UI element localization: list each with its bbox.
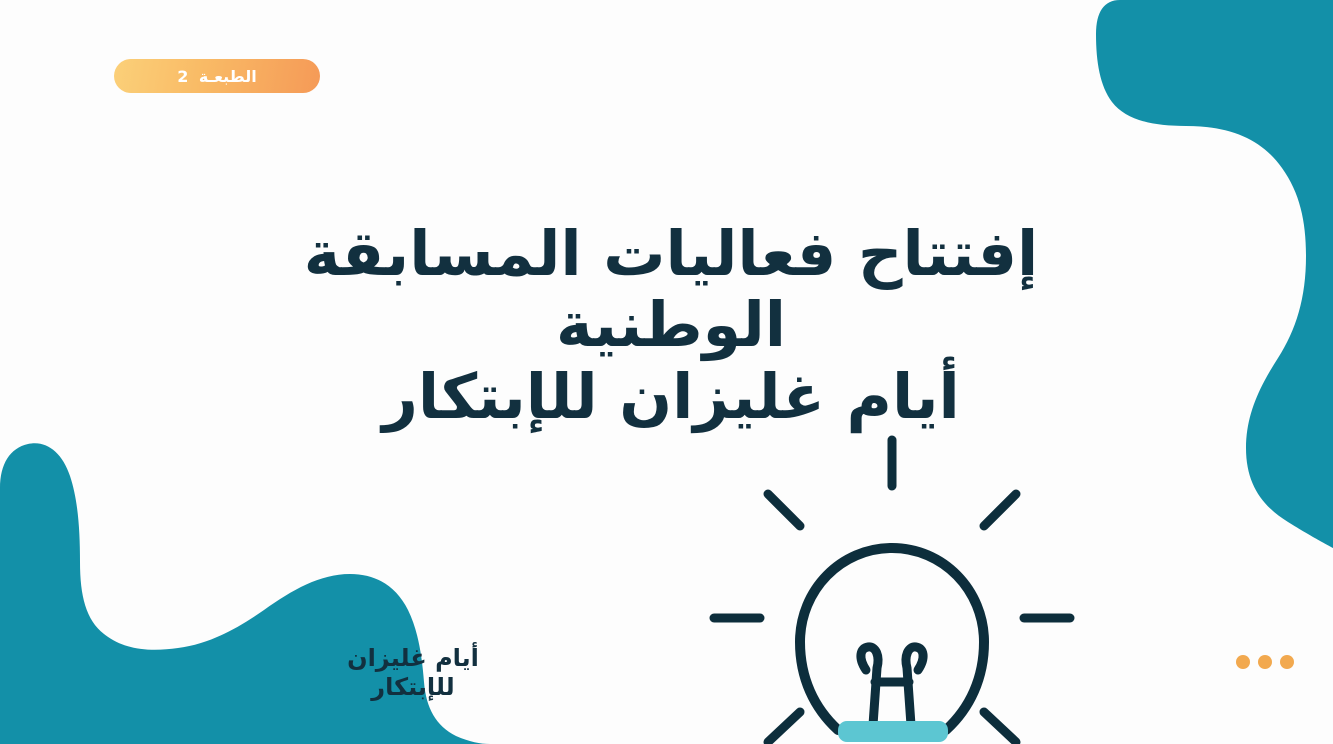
lightbulb-base (838, 721, 948, 742)
lightbulb-icon (690, 420, 1090, 744)
slide-canvas: الطبعـة 2 إفتتاح فعاليات المسابقة الوطني… (0, 0, 1333, 744)
dot-1 (1280, 655, 1294, 669)
dot-2 (1258, 655, 1272, 669)
lightbulb-ray-top-left (768, 494, 800, 526)
edition-badge-number: 2 (177, 67, 189, 86)
lightbulb-filament (861, 647, 923, 725)
lightbulb-ray-top-right (984, 494, 1016, 526)
decorative-dots (1236, 655, 1294, 669)
page-title: إفتتاح فعاليات المسابقة الوطنية أيام غلي… (195, 218, 1147, 434)
footer-brand-text: أيام غليزان للإبتكار (305, 644, 521, 702)
lightbulb-ray-bottom-right (984, 712, 1016, 742)
edition-badge-label: الطبعـة (199, 67, 257, 86)
dot-3 (1236, 655, 1250, 669)
lightbulb-glass (800, 548, 984, 730)
lightbulb-ray-bottom-left (768, 712, 800, 742)
page-title-line-1: إفتتاح فعاليات المسابقة الوطنية (195, 218, 1147, 362)
edition-badge: الطبعـة 2 (114, 59, 320, 93)
